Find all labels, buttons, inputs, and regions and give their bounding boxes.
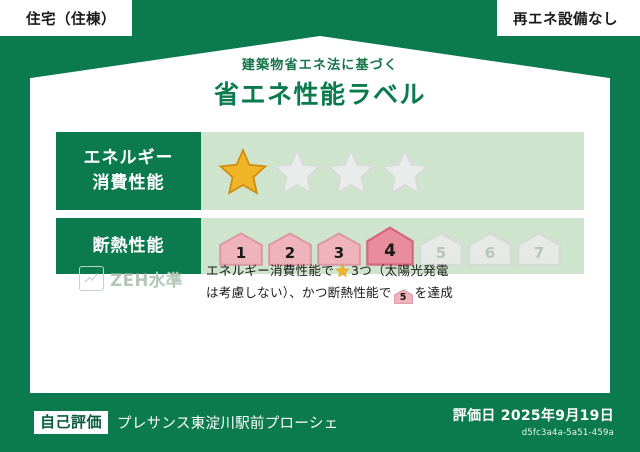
zeh-note-line1-part1: エネルギー消費性能で	[206, 263, 334, 278]
footer-right: 評価日 2025年9月19日 d5fc3a4a-5a51-459a	[453, 407, 614, 437]
footer-left: 自己評価 プレサンス東淀川駅前プローシェ	[34, 411, 338, 435]
zeh-chart-icon	[79, 266, 104, 291]
zeh-standard-logo: ZEH水準	[56, 258, 206, 291]
evaluation-id: d5fc3a4a-5a51-459a	[453, 428, 614, 438]
star-rating	[219, 147, 429, 195]
zeh-note-line2-part1: は考慮しない）、かつ断熱性能で	[206, 285, 392, 300]
zeh-note-line2-part2: を達成	[415, 285, 453, 300]
self-evaluation-badge: 自己評価	[34, 411, 108, 435]
renewable-energy-tab: 再エネ設備なし	[497, 0, 640, 36]
insulation-step-number: 3	[334, 246, 344, 266]
star-empty-icon	[381, 147, 429, 195]
energy-performance-row: エネルギー 消費性能	[56, 132, 584, 210]
energy-label-line1: エネルギー	[84, 146, 174, 171]
inline-insulation-badge-number: 5	[394, 289, 413, 306]
title-block: 建築物省エネ法に基づく 省エネ性能ラベル	[30, 58, 610, 111]
evaluation-date: 評価日 2025年9月19日	[453, 407, 614, 425]
insulation-step-number: 2	[285, 246, 295, 266]
label-card: 建築物省エネ法に基づく 省エネ性能ラベル エネルギー 消費性能	[30, 36, 610, 393]
label-subtitle: 建築物省エネ法に基づく	[30, 58, 610, 74]
star-empty-icon	[327, 147, 375, 195]
star-empty-icon	[273, 147, 321, 195]
zeh-note-area: ZEH水準 エネルギー消費性能で3つ（太陽光発電 は考慮しない）、かつ断熱性能で…	[56, 258, 584, 304]
label-title: 省エネ性能ラベル	[30, 78, 610, 112]
building-type-tab: 住宅（住棟）	[0, 0, 132, 36]
label-footer: 自己評価 プレサンス東淀川駅前プローシェ 評価日 2025年9月19日 d5fc…	[0, 393, 640, 452]
energy-performance-value	[201, 132, 584, 210]
star-filled-icon	[219, 147, 267, 195]
inline-insulation-badge: 5	[394, 289, 413, 304]
energy-performance-label: 住宅（住棟） 再エネ設備なし 建築物省エネ法に基づく 省エネ性能ラベル エネルギ…	[0, 0, 640, 452]
insulation-label: 断熱性能	[93, 234, 165, 259]
insulation-step-number: 1	[236, 246, 246, 266]
insulation-step-number: 7	[534, 246, 544, 266]
energy-performance-label-box: エネルギー 消費性能	[56, 132, 201, 210]
zeh-standard-label: ZEH水準	[110, 267, 183, 291]
insulation-step-number: 5	[436, 246, 446, 266]
energy-label-line2: 消費性能	[93, 171, 165, 196]
zeh-note-line2: は考慮しない）、かつ断熱性能で5を達成	[206, 282, 584, 304]
insulation-step-number: 4	[384, 243, 396, 266]
insulation-step-number: 6	[485, 246, 495, 266]
building-name: プレサンス東淀川駅前プローシェ	[117, 412, 338, 433]
zeh-note-line1-part2: 3つ（太陽光発電	[351, 263, 449, 278]
